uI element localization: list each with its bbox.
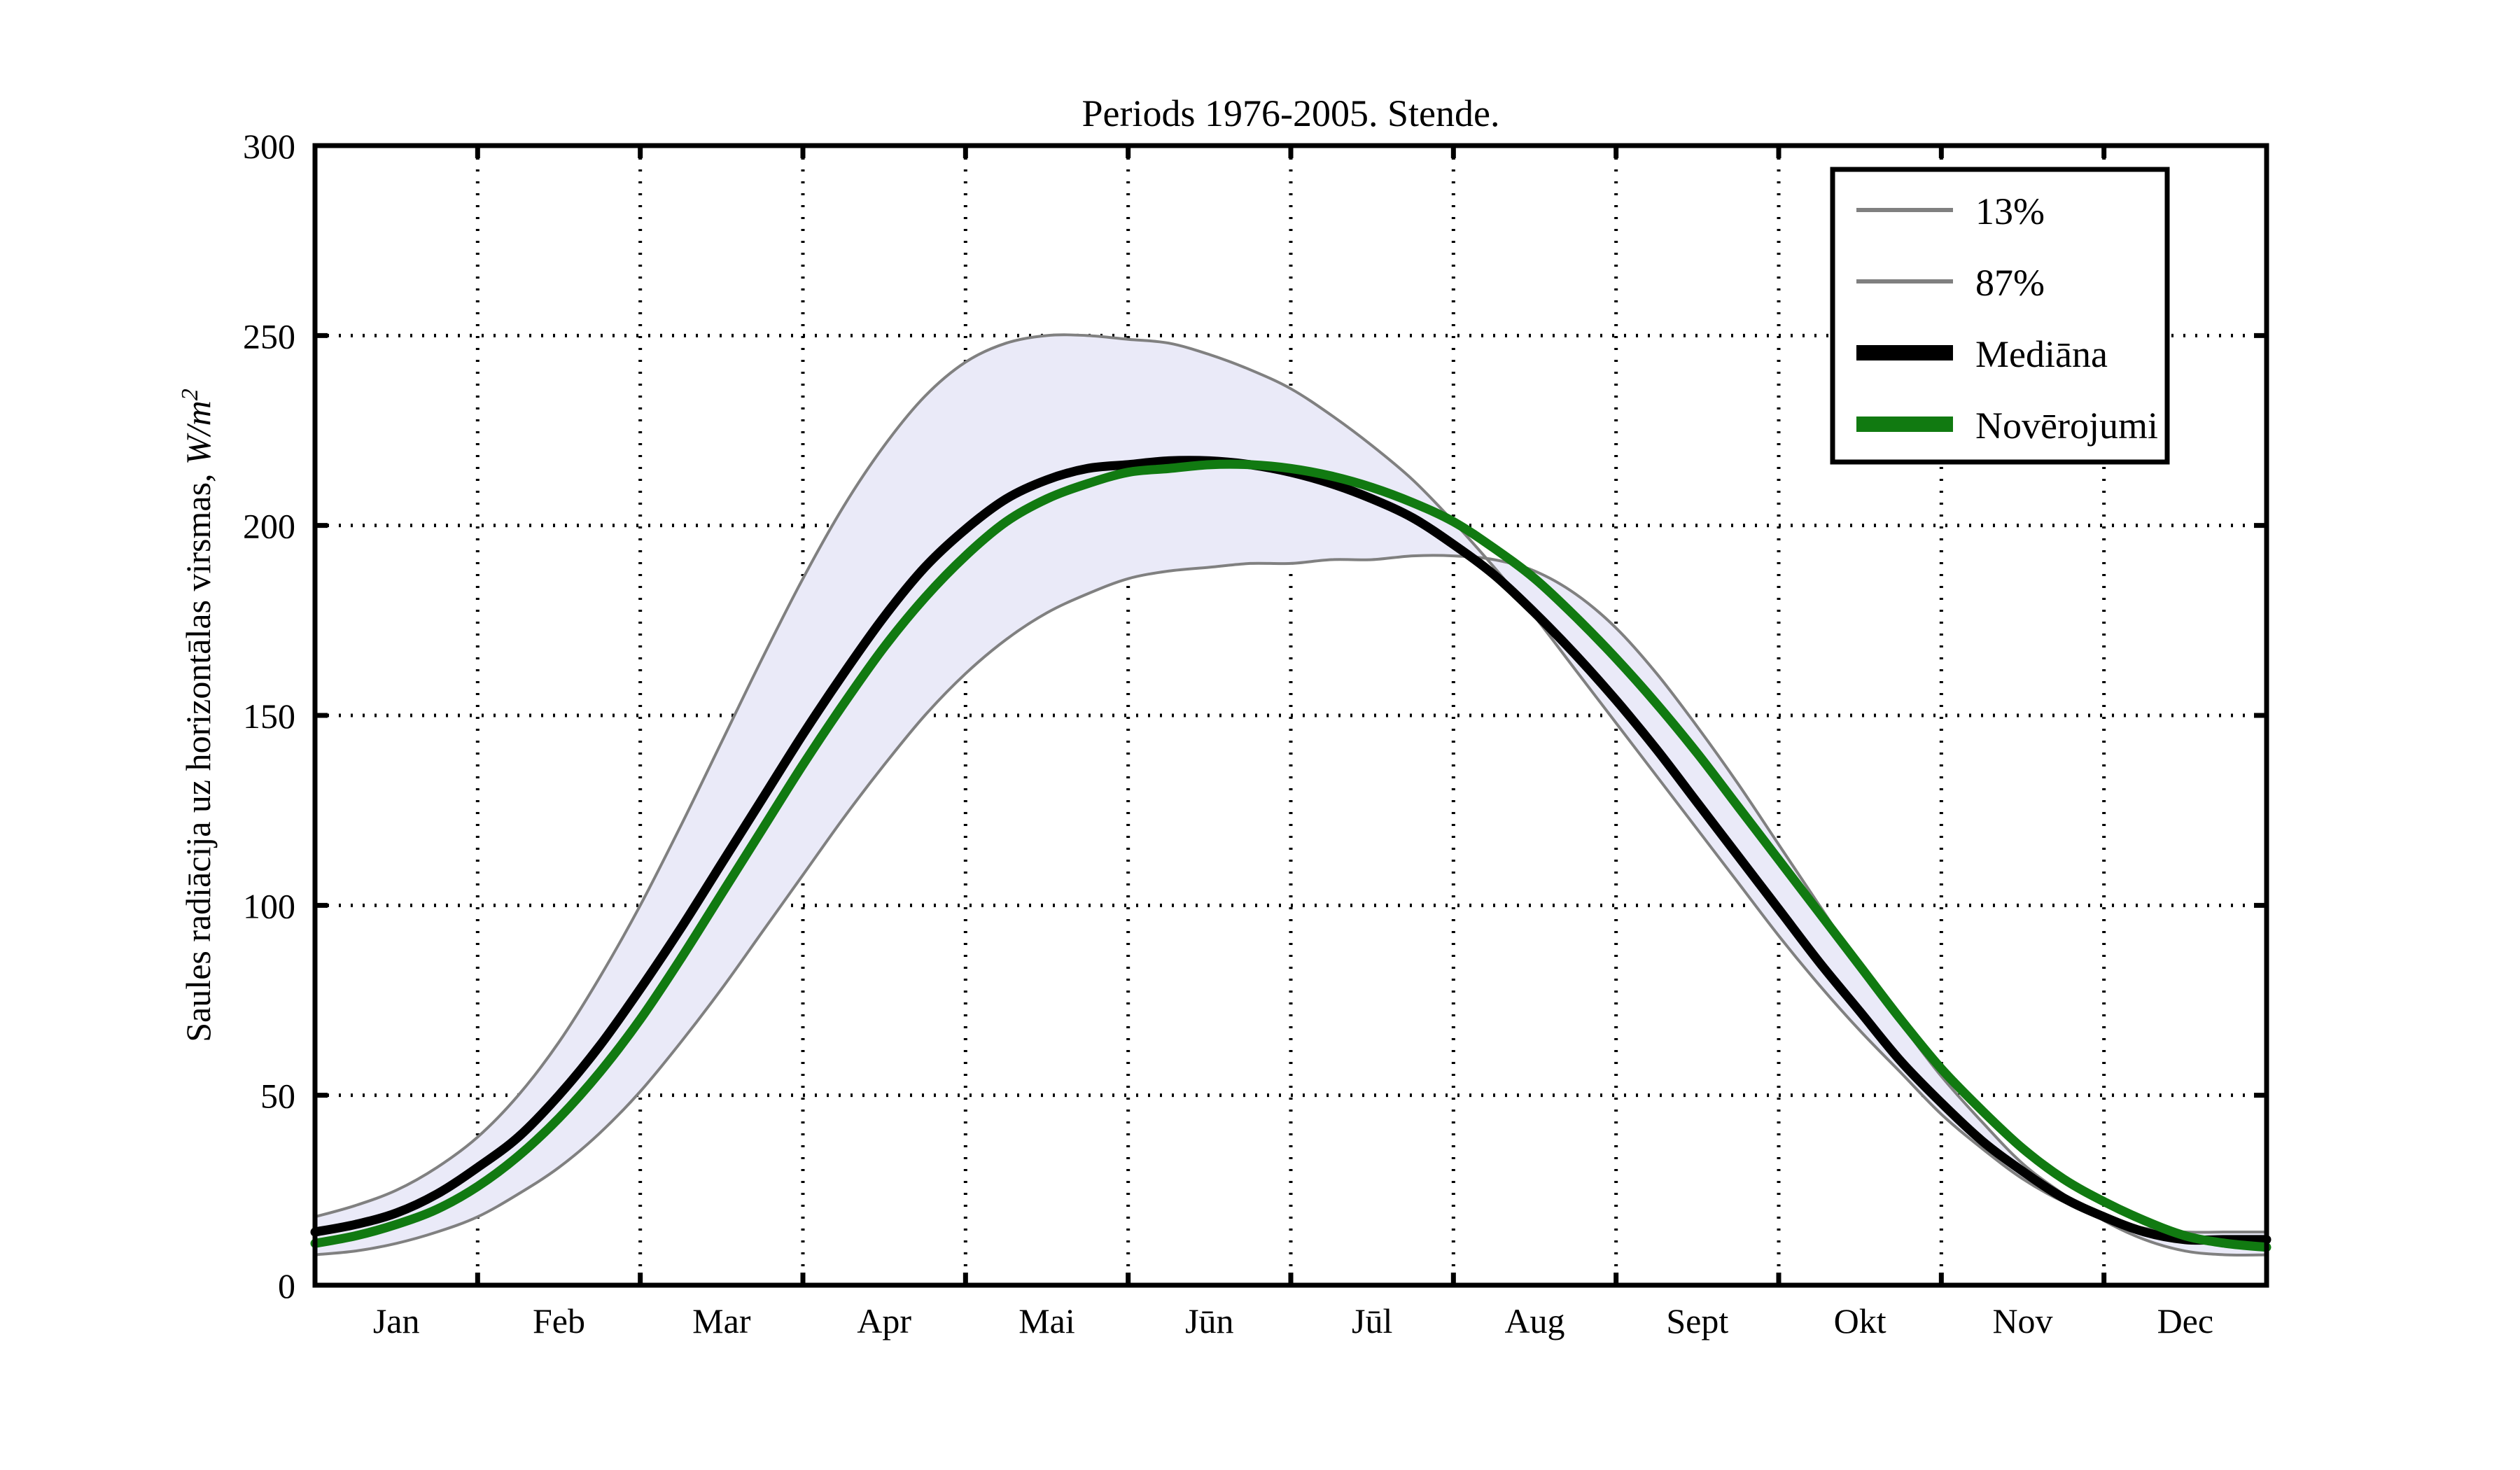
y-tick-label: 100 xyxy=(243,886,295,925)
x-tick-label-jūn: Jūn xyxy=(1185,1301,1233,1340)
legend-label-87: 87% xyxy=(1975,262,2045,304)
legend-label-13: 13% xyxy=(1975,190,2045,232)
x-tick-label-okt: Okt xyxy=(1834,1301,1886,1340)
y-tick-label: 300 xyxy=(243,127,295,166)
x-tick-label-dec: Dec xyxy=(2157,1301,2214,1340)
y-tick-label: 200 xyxy=(243,507,295,546)
y-axis-label: Saules radiācija uz horizontālas virsmas… xyxy=(177,388,218,1042)
x-tick-label-jūl: Jūl xyxy=(1352,1301,1392,1340)
x-tick-label-feb: Feb xyxy=(533,1301,585,1340)
y-tick-label: 50 xyxy=(260,1077,295,1116)
x-tick-label-jan: Jan xyxy=(373,1301,420,1340)
y-tick-label: 250 xyxy=(243,316,295,356)
y-axis-label-exponent: 2 xyxy=(177,388,203,400)
y-axis-label-w: W xyxy=(178,433,218,465)
x-tick-label-aug: Aug xyxy=(1504,1301,1564,1340)
x-tick-label-apr: Apr xyxy=(857,1301,911,1340)
x-tick-label-sept: Sept xyxy=(1666,1301,1728,1340)
y-axis-label-main: Saules radiācija uz horizontālas virsmas… xyxy=(178,465,218,1042)
legend-label-nov-rojumi: Novērojumi xyxy=(1975,405,2158,447)
chart-canvas: 050100150200250300 JanFebMarAprMaiJūnJūl… xyxy=(0,0,2520,1470)
x-tick-label-mai: Mai xyxy=(1018,1301,1075,1340)
legend-label-medi-na: Mediāna xyxy=(1975,333,2108,375)
chart-title: Periods 1976-2005. Stende. xyxy=(1082,92,1500,134)
y-axis-label-m: m xyxy=(178,400,218,426)
y-tick-label: 150 xyxy=(243,696,295,736)
chart-figure: 050100150200250300 JanFebMarAprMaiJūnJūl… xyxy=(0,0,2520,1470)
x-tick-label-nov: Nov xyxy=(1992,1301,2052,1340)
x-tick-label-mar: Mar xyxy=(692,1301,751,1340)
legend[interactable]: 13%87%MediānaNovērojumi xyxy=(1833,169,2167,462)
y-axis-label-text: Saules radiācija uz horizontālas virsmas… xyxy=(177,388,218,1042)
y-tick-label: 0 xyxy=(278,1266,295,1305)
